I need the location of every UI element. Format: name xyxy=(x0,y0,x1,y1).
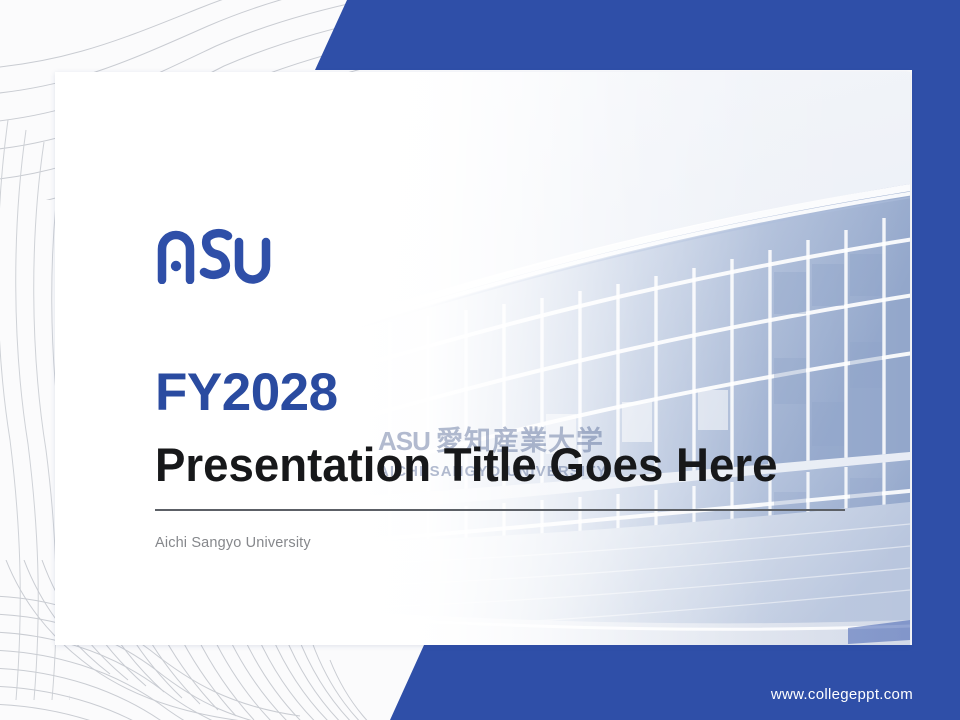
logo-dot xyxy=(171,261,181,271)
footer-website-url[interactable]: www.collegeppt.com xyxy=(771,686,913,703)
building-signage: ASU 愛知産業大学 AICHI SANGYO UNIVERSITY xyxy=(350,72,910,645)
asu-logo xyxy=(155,222,280,284)
bottom-blue-band xyxy=(390,645,960,720)
university-building-photo: ASU 愛知産業大学 AICHI SANGYO UNIVERSITY xyxy=(350,72,910,645)
presentation-slide: ASU 愛知産業大学 AICHI SANGYO UNIVERSITY FY202… xyxy=(0,0,960,720)
university-subtitle: Aichi Sangyo University xyxy=(155,535,311,551)
fiscal-year-heading: FY2028 xyxy=(155,366,338,419)
logo-s xyxy=(204,233,228,275)
page-title: Presentation Title Goes Here xyxy=(155,440,777,491)
title-divider xyxy=(155,509,845,511)
right-blue-strip xyxy=(912,70,960,645)
slide-content-card: ASU 愛知産業大学 AICHI SANGYO UNIVERSITY FY202… xyxy=(55,72,910,645)
top-blue-wedge xyxy=(315,0,960,70)
